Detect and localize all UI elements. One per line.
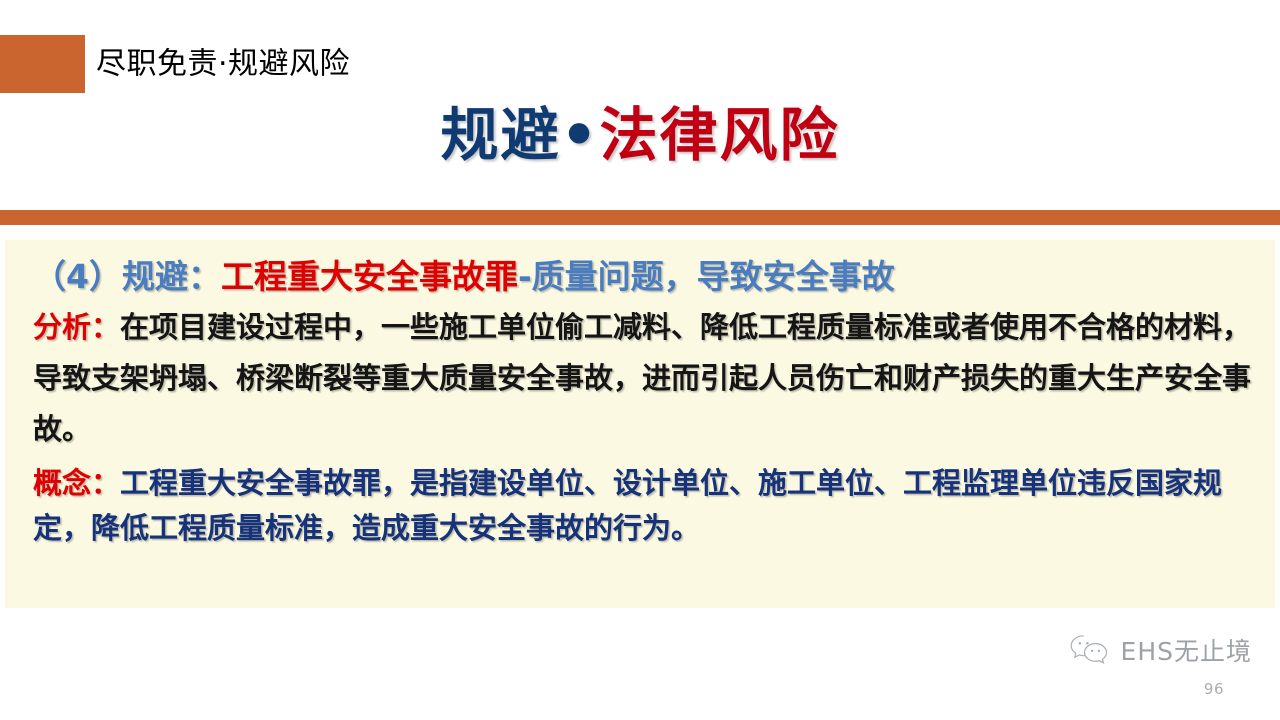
heading-suffix: -质量问题，导致安全事故 <box>518 257 895 296</box>
content-body: （4）规避：工程重大安全事故罪-质量问题，导致安全事故 分析：在项目建设过程中，… <box>33 254 1261 551</box>
watermark: EHS无止境 <box>1068 632 1252 668</box>
divider-bar <box>0 210 1280 225</box>
content-heading: （4）规避：工程重大安全事故罪-质量问题，导致安全事故 <box>33 254 1261 300</box>
header-title: 尽职免责·规避风险 <box>96 48 350 81</box>
page-title-bullet: • <box>560 101 599 169</box>
concept-label: 概念： <box>33 466 120 500</box>
page-title-part-2: 法律风险 <box>600 101 840 169</box>
header-accent-block <box>0 35 85 93</box>
content-card: （4）规避：工程重大安全事故罪-质量问题，导致安全事故 分析：在项目建设过程中，… <box>5 240 1275 608</box>
heading-prefix: （4）规避： <box>33 257 221 296</box>
page-title-part-1: 规避 <box>440 101 560 169</box>
analysis-text: 在项目建设过程中，一些施工单位偷工减料、降低工程质量标准或者使用不合格的材料，导… <box>33 310 1251 446</box>
analysis-label: 分析： <box>33 310 120 344</box>
concept-paragraph: 概念：工程重大安全事故罪，是指建设单位、设计单位、施工单位、工程监理单位违反国家… <box>33 461 1261 551</box>
slide-header: 尽职免责·规避风险 <box>0 35 1280 93</box>
slide-root: 尽职免责·规避风险 规避•法律风险 （4）规避：工程重大安全事故罪-质量问题，导… <box>0 0 1280 720</box>
concept-text: 工程重大安全事故罪，是指建设单位、设计单位、施工单位、工程监理单位违反国家规定，… <box>33 466 1222 545</box>
heading-crime-term: 工程重大安全事故罪 <box>221 257 518 296</box>
analysis-paragraph: 分析：在项目建设过程中，一些施工单位偷工减料、降低工程质量标准或者使用不合格的材… <box>33 302 1261 455</box>
watermark-text: EHS无止境 <box>1121 632 1252 668</box>
page-title: 规避•法律风险 <box>0 104 1280 168</box>
wechat-icon <box>1068 633 1112 667</box>
page-number: 96 <box>1204 680 1224 698</box>
